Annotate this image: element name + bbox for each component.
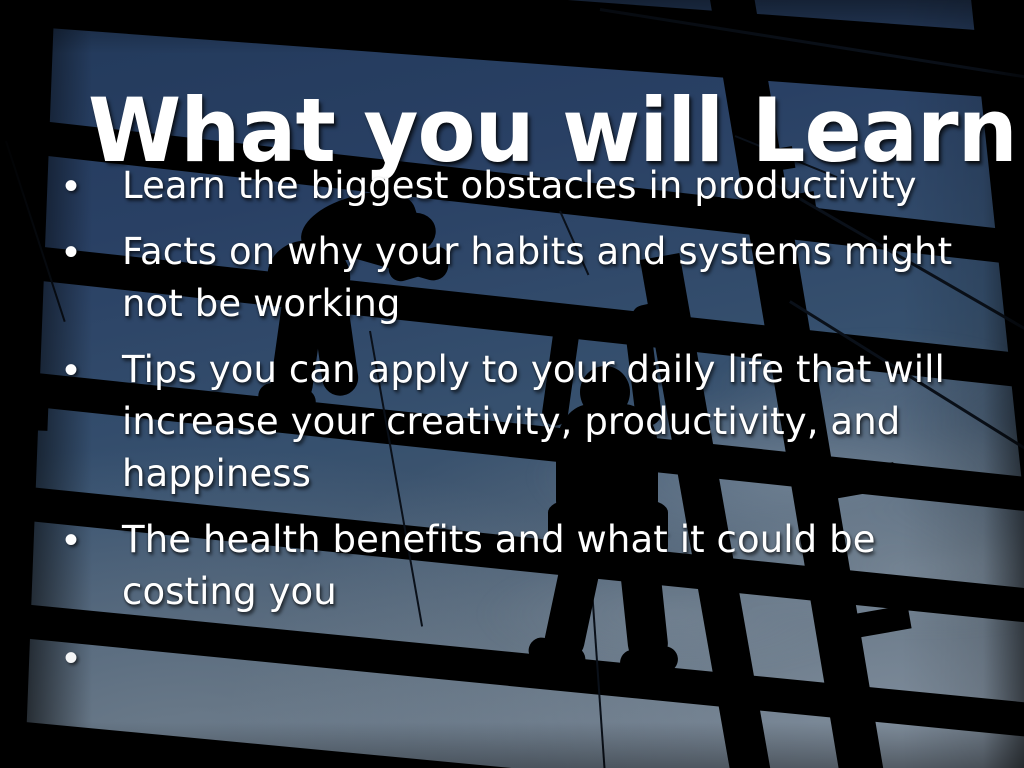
presentation-slide: What you will Learn •Learn the biggest o… xyxy=(0,0,1024,768)
bullet-text: Tips you can apply to your daily life th… xyxy=(122,344,976,500)
bullet-point-icon: • xyxy=(56,632,122,684)
bullet-item: •Facts on why your habits and systems mi… xyxy=(56,226,976,330)
bullet-text: The health benefits and what it could be… xyxy=(122,514,976,618)
bullet-item: •Tips you can apply to your daily life t… xyxy=(56,344,976,500)
bullet-text: Learn the biggest obstacles in productiv… xyxy=(122,160,976,212)
bullet-point-icon: • xyxy=(56,344,122,396)
bullet-item: •The health benefits and what it could b… xyxy=(56,514,976,618)
bullet-point-icon: • xyxy=(56,514,122,566)
bullet-item: • xyxy=(56,632,976,684)
bullet-item: •Learn the biggest obstacles in producti… xyxy=(56,160,976,212)
bullet-text: Facts on why your habits and systems mig… xyxy=(122,226,976,330)
bullet-point-icon: • xyxy=(56,160,122,212)
slide-content: What you will Learn •Learn the biggest o… xyxy=(0,0,1024,768)
bullet-point-icon: • xyxy=(56,226,122,278)
bullet-list: •Learn the biggest obstacles in producti… xyxy=(56,160,976,698)
